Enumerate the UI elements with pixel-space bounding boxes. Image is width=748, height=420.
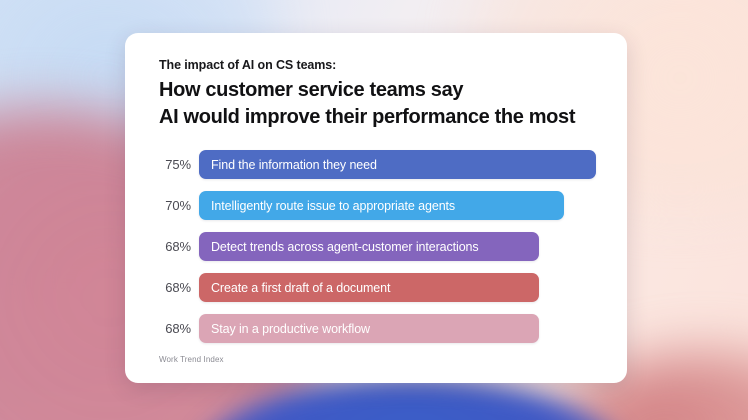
bar-category-label: Create a first draft of a document [211, 281, 390, 295]
bar-value-label: 68% [125, 232, 191, 261]
bar-category-label: Stay in a productive workflow [211, 322, 370, 336]
bar-row: 68%Detect trends across agent-customer i… [125, 232, 627, 261]
bar-track: Detect trends across agent-customer inte… [199, 232, 539, 261]
bar-track: Stay in a productive workflow [199, 314, 539, 343]
headline-line-1: How customer service teams say [159, 77, 575, 104]
bar-category-label: Find the information they need [211, 158, 377, 172]
bar-row: 75%Find the information they need [125, 150, 627, 179]
bar-fill: Intelligently route issue to appropriate… [199, 191, 564, 220]
bar-track: Find the information they need [199, 150, 596, 179]
bar-row: 70%Intelligently route issue to appropri… [125, 191, 627, 220]
bar-row: 68%Create a first draft of a document [125, 273, 627, 302]
bar-fill: Stay in a productive workflow [199, 314, 539, 343]
stat-card: The impact of AI on CS teams: How custom… [125, 33, 627, 383]
bar-track: Create a first draft of a document [199, 273, 539, 302]
bar-fill: Find the information they need [199, 150, 596, 179]
background-blob-blue [196, 378, 626, 420]
bar-value-label: 75% [125, 150, 191, 179]
bar-chart: 75%Find the information they need70%Inte… [125, 150, 627, 355]
bar-row: 68%Stay in a productive workflow [125, 314, 627, 343]
bar-value-label: 68% [125, 314, 191, 343]
bar-value-label: 68% [125, 273, 191, 302]
card-headline: How customer service teams say AI would … [159, 77, 575, 130]
bar-fill: Create a first draft of a document [199, 273, 539, 302]
bar-value-label: 70% [125, 191, 191, 220]
card-eyebrow: The impact of AI on CS teams: [159, 58, 336, 72]
bar-category-label: Intelligently route issue to appropriate… [211, 199, 455, 213]
bar-fill: Detect trends across agent-customer inte… [199, 232, 539, 261]
source-note: Work Trend Index [159, 355, 224, 364]
slide-canvas: The impact of AI on CS teams: How custom… [0, 0, 748, 420]
bar-track: Intelligently route issue to appropriate… [199, 191, 564, 220]
headline-line-2: AI would improve their performance the m… [159, 104, 575, 131]
bar-category-label: Detect trends across agent-customer inte… [211, 240, 479, 254]
